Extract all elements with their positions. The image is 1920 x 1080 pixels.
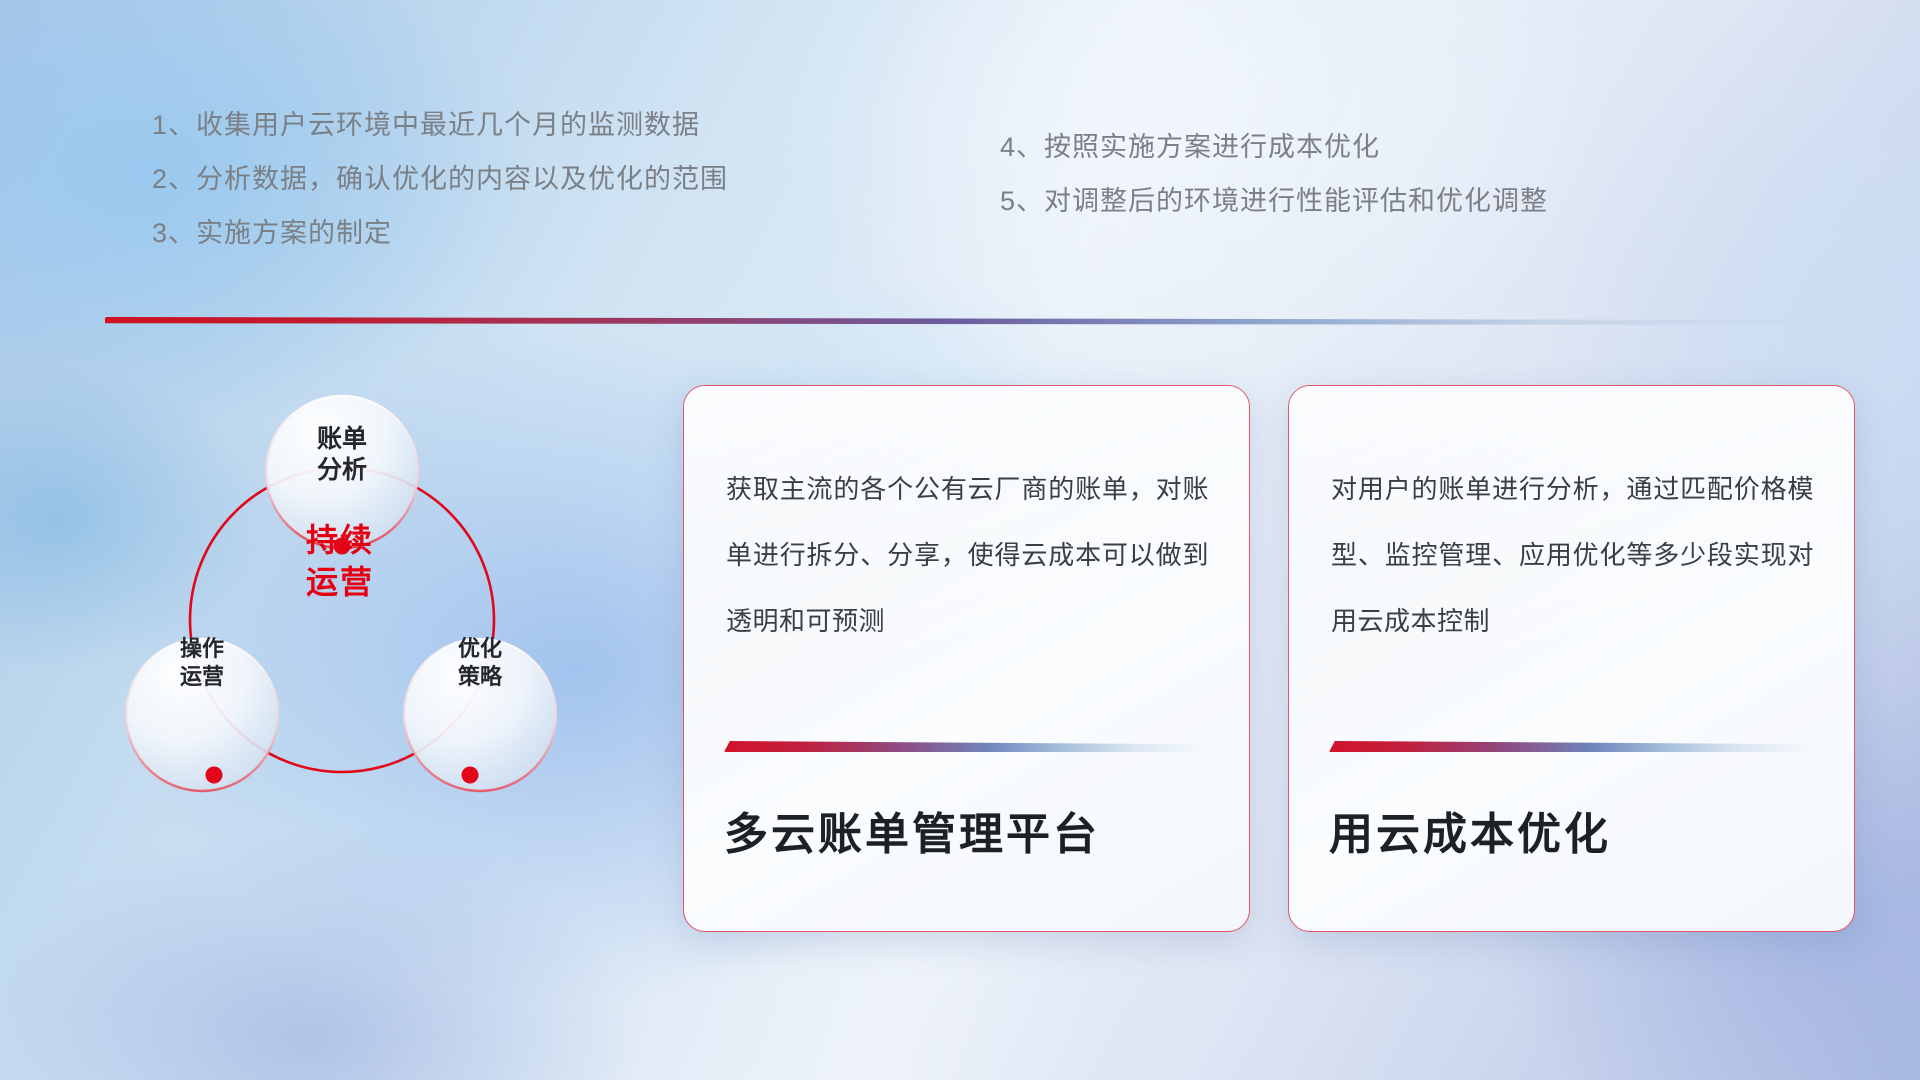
card-divider-gradient-bar [1329, 741, 1814, 752]
info-card-billing-platform[interactable]: 获取主流的各个公有云厂商的账单，对账单进行拆分、分享，使得云成本可以做到透明和可… [683, 385, 1250, 932]
card-divider-gradient-bar [724, 741, 1209, 752]
venn-label-center-line2: 运营 [255, 562, 425, 604]
venn-label-bottom-right-line2: 策略 [410, 663, 550, 691]
list-item: 2、分析数据，确认优化的内容以及优化的范围 [152, 152, 728, 206]
process-step-list-right-column: 4、按照实施方案进行成本优化 5、对调整后的环境进行性能评估和优化调整 [1000, 120, 1548, 228]
list-item: 4、按照实施方案进行成本优化 [1000, 120, 1548, 174]
section-divider-gradient-bar [105, 317, 1865, 325]
section-divider-rule [105, 317, 1865, 325]
venn-label-center: 持续 运营 [255, 520, 425, 603]
venn-label-bottom-left: 操作 运营 [132, 635, 272, 690]
venn-label-top-line1: 账单 [272, 424, 412, 455]
venn-node-dot-bottom-right [462, 767, 479, 784]
venn-label-bottom-right-line1: 优化 [410, 635, 550, 663]
venn-label-bottom-left-line2: 运营 [132, 663, 272, 691]
venn-label-top: 账单 分析 [272, 424, 412, 487]
card-title: 用云成本优化 [1329, 798, 1819, 862]
list-item: 3、实施方案的制定 [152, 206, 728, 260]
info-card-cost-optimization[interactable]: 对用户的账单进行分析，通过匹配价格模型、监控管理、应用优化等多少段实现对用云成本… [1288, 385, 1855, 932]
card-title: 多云账单管理平台 [724, 798, 1214, 862]
process-step-list-left-column: 1、收集用户云环境中最近几个月的监测数据 2、分析数据，确认优化的内容以及优化的… [152, 98, 728, 260]
process-step-list: 1、收集用户云环境中最近几个月的监测数据 2、分析数据，确认优化的内容以及优化的… [0, 0, 1920, 260]
card-body-text: 获取主流的各个公有云厂商的账单，对账单进行拆分、分享，使得云成本可以做到透明和可… [726, 456, 1209, 654]
venn-label-bottom-right: 优化 策略 [410, 635, 550, 690]
venn-label-bottom-left-line1: 操作 [132, 635, 272, 663]
venn-node-dot-bottom-left [206, 767, 223, 784]
venn-label-top-line2: 分析 [272, 455, 412, 486]
list-item: 5、对调整后的环境进行性能评估和优化调整 [1000, 174, 1548, 228]
card-body-text: 对用户的账单进行分析，通过匹配价格模型、监控管理、应用优化等多少段实现对用云成本… [1331, 456, 1814, 654]
list-item: 1、收集用户云环境中最近几个月的监测数据 [152, 98, 728, 152]
venn-label-center-line1: 持续 [255, 520, 425, 562]
venn-diagram: 账单 分析 持续 运营 操作 运营 优化 策略 [80, 350, 600, 970]
